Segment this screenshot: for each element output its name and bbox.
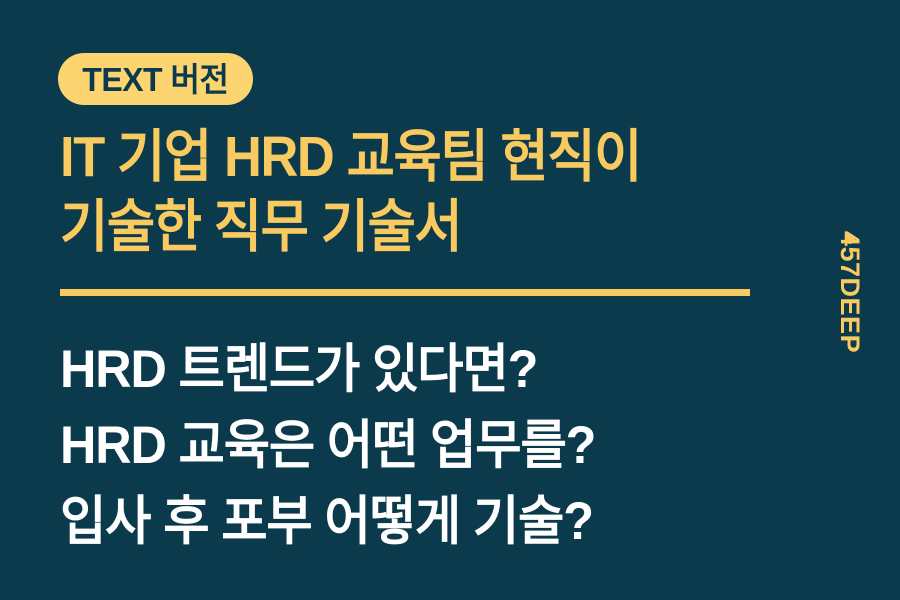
headline-divider — [60, 289, 750, 296]
text-version-badge: TEXT 버전 — [58, 53, 253, 105]
headline-block: IT 기업 HRD 교육팀 현직이 기술한 직무 기술서 — [60, 122, 780, 262]
brand-mark: 457DEEP — [812, 228, 888, 408]
question-list: HRD 트렌드가 있다면? HRD 교육은 어떤 업무를? 입사 후 포부 어떻… — [60, 332, 800, 560]
badge-label: TEXT 버전 — [82, 63, 228, 96]
poster-canvas: TEXT 버전 IT 기업 HRD 교육팀 현직이 기술한 직무 기술서 HRD… — [0, 0, 900, 600]
question-line-1: HRD 트렌드가 있다면? — [60, 332, 763, 408]
brand-name-vertical: 457DEEP — [833, 231, 867, 391]
question-line-3: 입사 후 포부 어떻게 기술? — [60, 484, 763, 560]
question-line-2: HRD 교육은 어떤 업무를? — [60, 408, 763, 484]
headline-line-2: 기술한 직무 기술서 — [60, 192, 722, 262]
headline-line-1: IT 기업 HRD 교육팀 현직이 — [60, 122, 722, 192]
